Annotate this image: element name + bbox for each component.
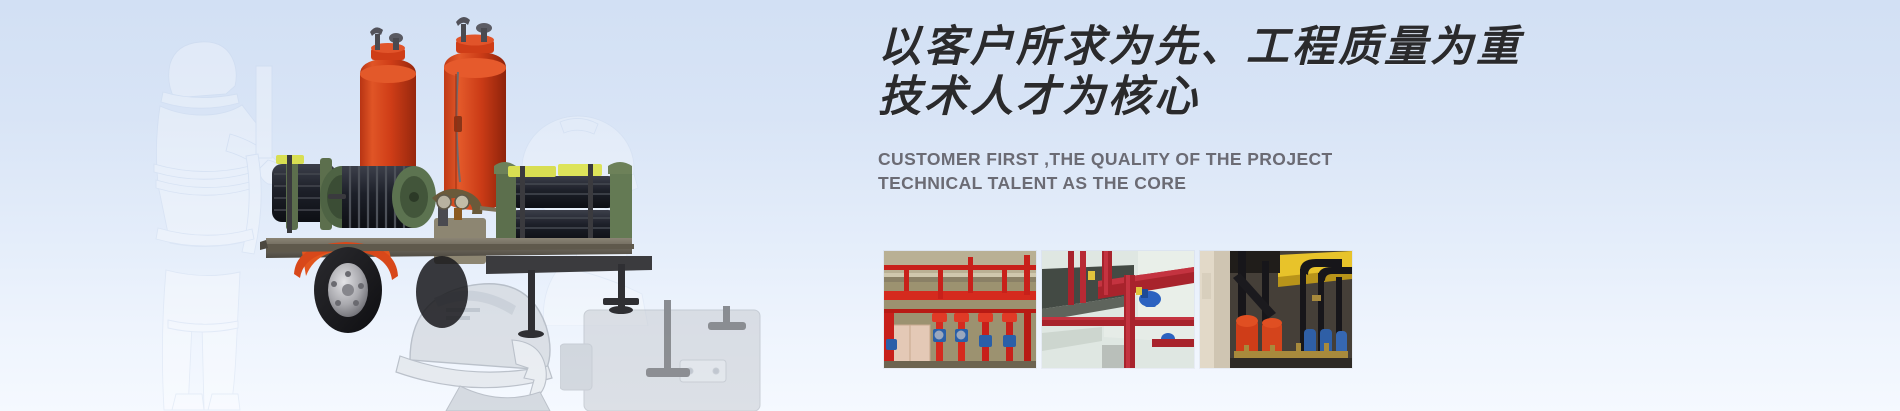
headline-line-1: 以客户所求为先、工程质量为重 [878,22,1522,72]
hero-banner: 以客户所求为先、工程质量为重 技术人才为核心 CUSTOMER FIRST ,T… [0,0,1900,411]
thumb-red-standpipe-stairwell[interactable] [1042,251,1194,368]
thumb-red-sprinkler-riser-room[interactable] [884,251,1036,368]
thumb-pump-room-equipment[interactable] [1200,251,1352,368]
subheadline-english: CUSTOMER FIRST ,THE QUALITY OF THE PROJE… [878,147,1578,195]
headline-chinese: 以客户所求为先、工程质量为重 技术人才为核心 [878,22,1578,122]
outrigger-legs [518,264,639,338]
thumbnail-strip [884,251,1352,368]
product-image-fire-trailer [258,12,678,342]
headline-line-2: 技术人才为核心 [878,72,1578,122]
hose-bundle-right [494,162,632,250]
subheadline-line-2: TECHNICAL TALENT AS THE CORE [878,171,1578,195]
hose-reel [320,166,436,228]
subheadline-line-1: CUSTOMER FIRST ,THE QUALITY OF THE PROJE… [878,149,1333,169]
banner-copy: 以客户所求为先、工程质量为重 技术人才为核心 CUSTOMER FIRST ,T… [878,22,1578,195]
trailer-wheel [314,247,382,333]
